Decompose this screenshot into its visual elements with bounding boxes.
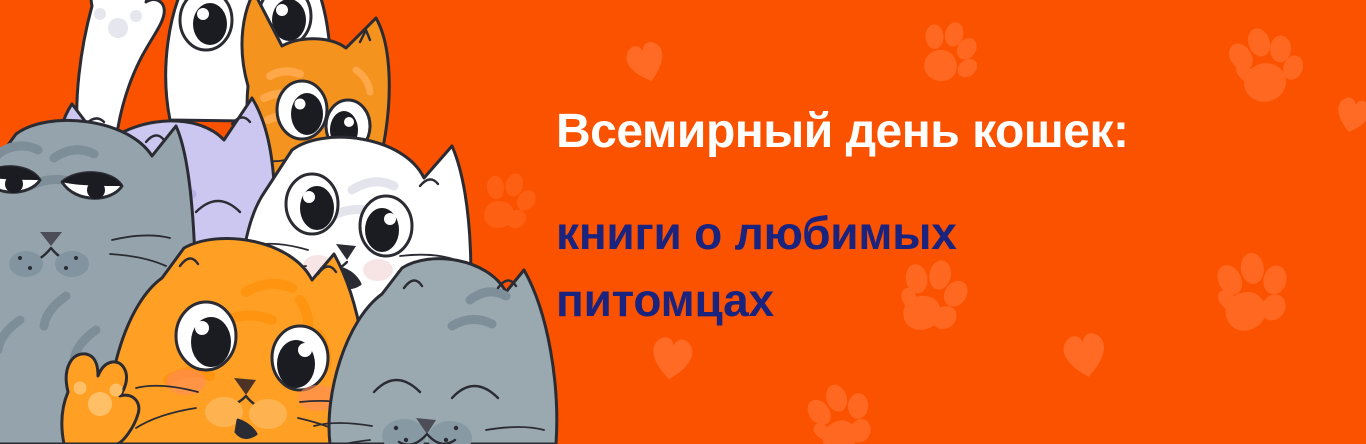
- banner-headline: Всемирный день кошек:: [556, 108, 1316, 156]
- banner-subheadline: книги о любимых питомцах: [556, 200, 1316, 333]
- paw-print-icon: [777, 359, 895, 444]
- banner-text-block: Всемирный день кошек: книги о любимых пи…: [556, 108, 1316, 333]
- banner-subheadline-line-2: питомцах: [556, 267, 1316, 334]
- paw-print-icon: [1202, 4, 1318, 120]
- heart-icon: [640, 326, 703, 389]
- cat-white-top-paw: [77, 0, 164, 140]
- banner-subheadline-line-1: книги о любимых: [556, 200, 1316, 267]
- paw-print-icon: [894, 0, 997, 101]
- heart-icon: [1325, 87, 1366, 143]
- cats-group-illustration: .ol{stroke:#2b2b33;stroke-width:3;stroke…: [0, 0, 560, 444]
- heart-icon: [614, 30, 678, 94]
- cat-day-promo-banner: .ol{stroke:#2b2b33;stroke-width:3;stroke…: [0, 0, 1366, 444]
